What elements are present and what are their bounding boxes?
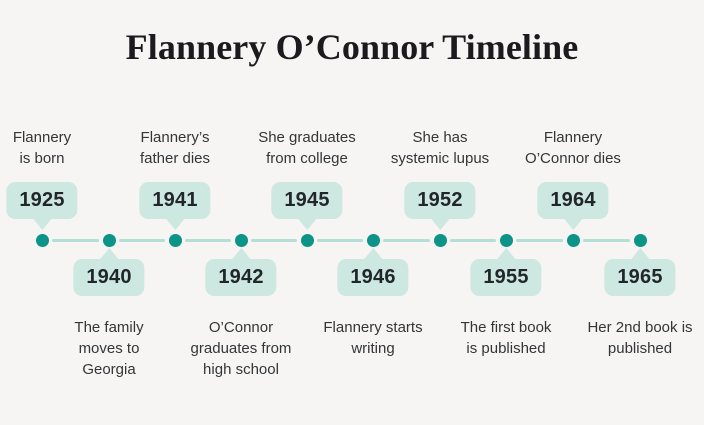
event-caption: Her 2nd book ispublished	[566, 317, 704, 359]
caption-line: Her 2nd book is	[566, 317, 704, 338]
timeline-event: 1965Her 2nd book ispublished	[565, 0, 704, 425]
caption-line: published	[566, 338, 704, 359]
year-badge[interactable]: 1965	[604, 259, 675, 296]
